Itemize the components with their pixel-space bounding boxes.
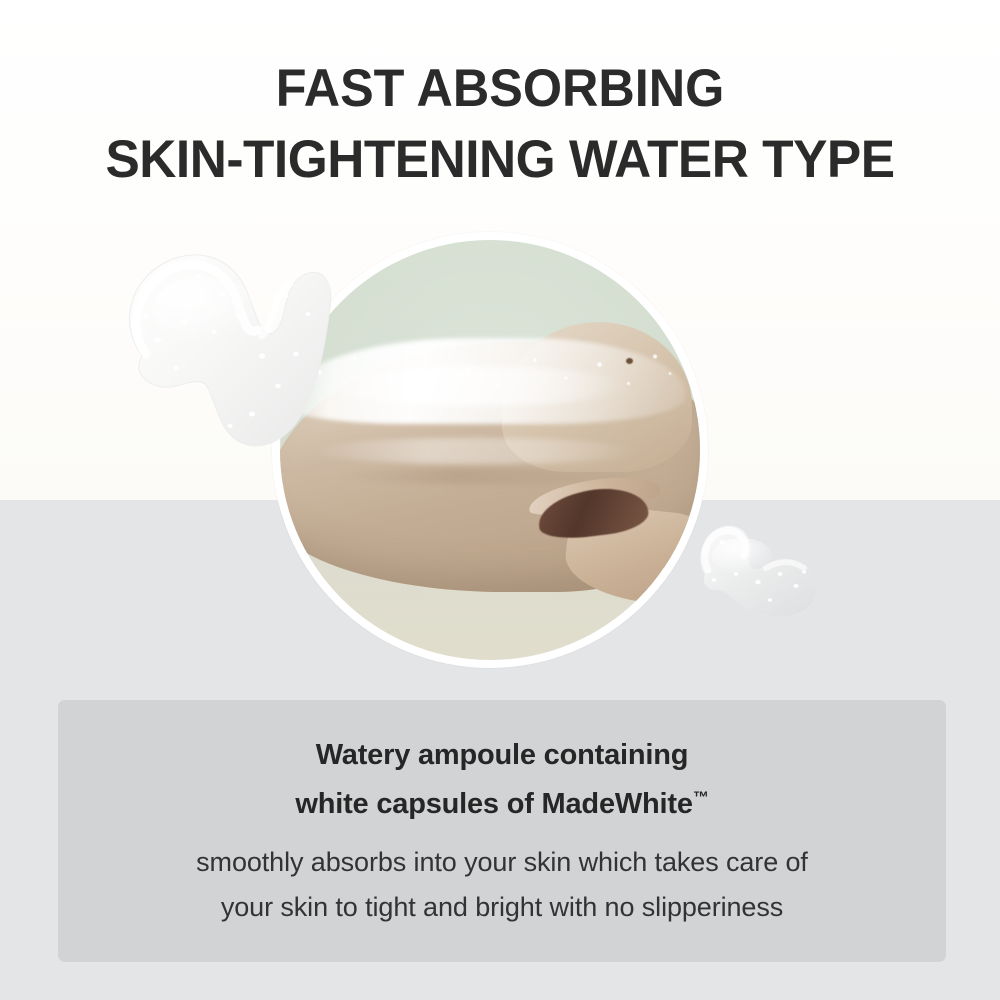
gel-swatch-left xyxy=(112,236,334,462)
headline: FAST ABSORBING SKIN-TIGHTENING WATER TYP… xyxy=(0,62,1000,186)
hand-crease-upper xyxy=(310,438,640,464)
caption-line-2-text: white capsules of MadeWhite xyxy=(295,788,692,820)
headline-line-2: SKIN-TIGHTENING WATER TYPE xyxy=(15,133,985,186)
caption-line-4: your skin to tight and bright with no sl… xyxy=(58,892,946,923)
caption-panel: Watery ampoule containing white capsules… xyxy=(58,700,946,962)
caption-line-2: white capsules of MadeWhite™ xyxy=(58,788,946,821)
trademark-symbol: ™ xyxy=(693,789,709,806)
gel-swatch-left-graphic xyxy=(112,236,334,462)
product-photo-circle xyxy=(280,240,700,660)
hand-crease-lower xyxy=(336,468,636,484)
marketing-banner: FAST ABSORBING SKIN-TIGHTENING WATER TYP… xyxy=(0,0,1000,1000)
hand-illustration xyxy=(280,314,700,604)
ampoule-sparkle-dots xyxy=(296,340,676,410)
headline-line-1: FAST ABSORBING xyxy=(25,62,975,115)
caption-line-1: Watery ampoule containing xyxy=(58,739,946,772)
caption-line-3: smoothly absorbs into your skin which ta… xyxy=(58,847,946,878)
gel-swatch-right xyxy=(692,516,826,628)
skin-mole xyxy=(626,358,633,364)
gel-swatch-right-graphic xyxy=(692,516,826,628)
